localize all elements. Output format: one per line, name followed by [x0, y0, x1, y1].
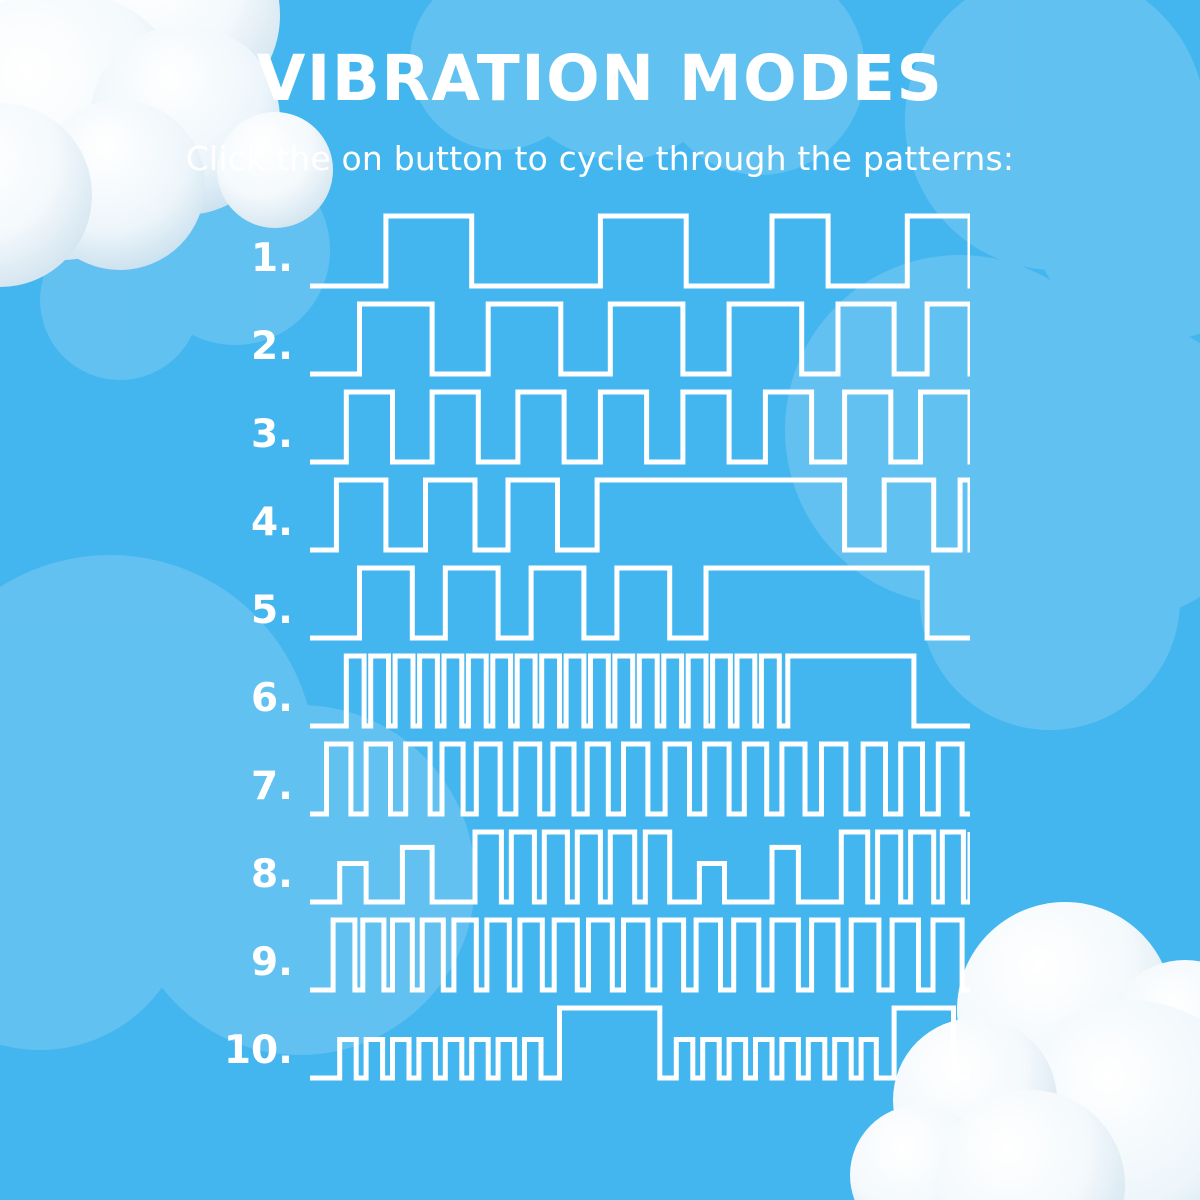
waveform-trace [310, 294, 970, 382]
waveform-trace [310, 558, 970, 646]
waveform-trace [310, 470, 970, 558]
vibration-mode-row[interactable]: 4. [0, 470, 1200, 558]
waveform-trace [310, 822, 970, 910]
vibration-mode-row[interactable]: 2. [0, 294, 1200, 382]
waveform-trace [310, 206, 970, 294]
waveform-trace [310, 382, 970, 470]
vibration-mode-row[interactable]: 3. [0, 382, 1200, 470]
waveform-trace [310, 998, 970, 1086]
vibration-mode-row[interactable]: 8. [0, 822, 1200, 910]
waveform-trace [310, 646, 970, 734]
vibration-mode-row[interactable]: 6. [0, 646, 1200, 734]
mode-number-label: 1. [175, 236, 293, 281]
poster-canvas: VIBRATION MODES Click the on button to c… [0, 0, 1200, 1200]
waveform-trace [310, 910, 970, 998]
mode-number-label: 10. [175, 1028, 293, 1073]
mode-number-label: 8. [175, 852, 293, 897]
mode-number-label: 7. [175, 764, 293, 809]
mode-number-label: 5. [175, 588, 293, 633]
vibration-mode-row[interactable]: 9. [0, 910, 1200, 998]
page-title: VIBRATION MODES [0, 46, 1200, 112]
waveform-trace [310, 734, 970, 822]
vibration-mode-row[interactable]: 7. [0, 734, 1200, 822]
vibration-mode-row[interactable]: 5. [0, 558, 1200, 646]
mode-number-label: 6. [175, 676, 293, 721]
poster-content: VIBRATION MODES Click the on button to c… [0, 0, 1200, 1200]
mode-number-label: 9. [175, 940, 293, 985]
page-subtitle: Click the on button to cycle through the… [0, 139, 1200, 178]
vibration-mode-list: 1.2.3.4.5.6.7.8.9.10. [0, 206, 1200, 1086]
mode-number-label: 4. [175, 500, 293, 545]
mode-number-label: 3. [175, 412, 293, 457]
mode-number-label: 2. [175, 324, 293, 369]
vibration-mode-row[interactable]: 10. [0, 998, 1200, 1086]
vibration-mode-row[interactable]: 1. [0, 206, 1200, 294]
